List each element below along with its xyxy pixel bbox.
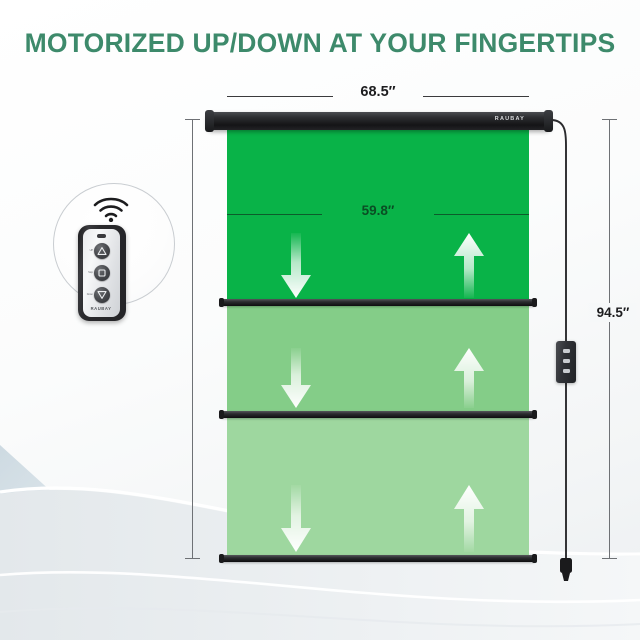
remote-label-up: UP xyxy=(84,250,93,253)
screen-panel-mid xyxy=(227,302,529,414)
square-stop-icon xyxy=(97,268,107,278)
remote-stop-button[interactable] xyxy=(94,265,110,281)
motor-control-box[interactable] xyxy=(556,341,576,383)
dimension-height-right xyxy=(609,119,610,559)
remote-led-indicator xyxy=(97,234,106,238)
housing-brand-logo: RAUBAY xyxy=(495,116,525,122)
remote-control[interactable]: UP Stop Down RAUBAY xyxy=(78,225,126,321)
remote-down-button[interactable] xyxy=(94,287,110,303)
dimension-tick-bottom xyxy=(185,558,200,559)
control-box-stop-button[interactable] xyxy=(563,359,570,363)
screen-bar-position-3 xyxy=(220,555,536,562)
top-housing-bar: RAUBAY xyxy=(207,112,551,130)
dimension-width-screen-label: 59.8″ xyxy=(227,203,529,218)
wifi-signal-icon xyxy=(92,196,130,222)
dimension-tick-top xyxy=(602,119,617,120)
product-infographic: MOTORIZED UP/DOWN AT YOUR FINGERTIPS UP … xyxy=(0,0,640,640)
dimension-width-top-label: 68.5″ xyxy=(227,84,529,100)
screen-bar-position-2 xyxy=(220,411,536,418)
remote-label-down: Down xyxy=(84,294,93,297)
remote-faceplate: UP Stop Down RAUBAY xyxy=(83,229,120,317)
control-box-down-button[interactable] xyxy=(563,369,570,373)
remote-brand-logo: RAUBAY xyxy=(83,306,120,311)
housing-end-cap-right xyxy=(544,110,553,132)
control-box-up-button[interactable] xyxy=(563,349,570,353)
page-title: MOTORIZED UP/DOWN AT YOUR FINGERTIPS xyxy=(0,28,640,59)
screen-bar-position-1 xyxy=(220,299,536,306)
screen-panel-low xyxy=(227,414,529,558)
dimension-width-top: 68.5″ xyxy=(227,96,529,97)
triangle-down-icon xyxy=(97,290,107,300)
dimension-tick-top xyxy=(185,119,200,120)
remote-up-button[interactable] xyxy=(94,243,110,259)
remote-label-stop: Stop xyxy=(84,272,93,275)
dimension-tick-bottom xyxy=(602,558,617,559)
power-plug-icon xyxy=(560,558,572,581)
dimension-height-left xyxy=(192,119,193,559)
triangle-up-icon xyxy=(97,246,107,256)
dimension-height-label: 94.5″ xyxy=(586,303,640,322)
housing-end-cap-left xyxy=(205,110,214,132)
dimension-width-screen: 59.8″ xyxy=(227,214,529,215)
